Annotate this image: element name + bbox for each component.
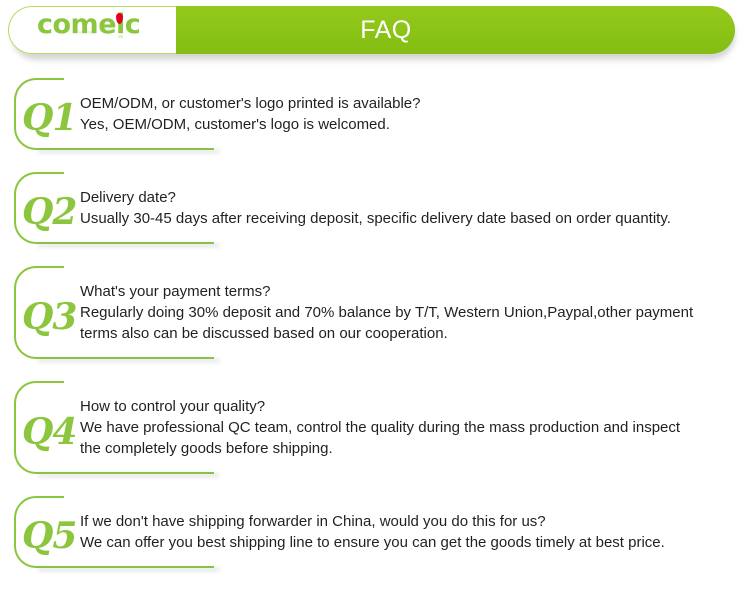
bracket-top-cut [64, 266, 214, 268]
faq-answer-text: the completely goods before shipping. [80, 438, 736, 459]
page-title: FAQ [176, 6, 596, 54]
faq-answer-text: Regularly doing 30% deposit and 70% bala… [80, 302, 736, 323]
faq-item[interactable]: Q3What's your payment terms?Regularly do… [0, 266, 750, 373]
bracket-top-cut [64, 172, 214, 174]
page-header: comeic comeic FAQ [8, 6, 735, 56]
faq-item[interactable]: Q2Delivery date?Usually 30-45 days after… [0, 172, 750, 258]
bracket-top-cut [64, 78, 214, 80]
faq-text-block: How to control your quality?We have prof… [80, 396, 736, 459]
faq-answer-text: Yes, OEM/ODM, customer's logo is welcome… [80, 114, 736, 135]
faq-question-text: How to control your quality? [80, 396, 736, 417]
faq-item[interactable]: Q5If we don't have shipping forwarder in… [0, 496, 750, 582]
faq-item[interactable]: Q4How to control your quality?We have pr… [0, 381, 750, 488]
bracket-top-cut [64, 381, 214, 383]
faq-question-text: If we don't have shipping forwarder in C… [80, 511, 736, 532]
faq-question-label: Q2 [22, 194, 76, 230]
faq-question-text: What's your payment terms? [80, 281, 736, 302]
faq-item[interactable]: Q1OEM/ODM, or customer's logo printed is… [0, 78, 750, 164]
faq-question-label: Q3 [22, 299, 76, 335]
bracket-top-cut [64, 496, 214, 498]
faq-answer-text: Usually 30-45 days after receiving depos… [80, 208, 736, 229]
brand-logo[interactable]: comeic comeic [37, 9, 177, 54]
faq-text-block: What's your payment terms?Regularly doin… [80, 281, 736, 344]
faq-question-text: Delivery date? [80, 187, 736, 208]
faq-list: Q1OEM/ODM, or customer's logo printed is… [0, 78, 750, 590]
faq-answer-text: terms also can be discussed based on our… [80, 323, 736, 344]
faq-question-label: Q5 [22, 518, 76, 554]
logo-reflection: comeic [37, 19, 140, 39]
faq-text-block: If we don't have shipping forwarder in C… [80, 511, 736, 553]
header-green-bar: FAQ [176, 6, 735, 54]
faq-text-block: Delivery date?Usually 30-45 days after r… [80, 187, 736, 229]
faq-question-text: OEM/ODM, or customer's logo printed is a… [80, 93, 736, 114]
faq-question-label: Q1 [22, 100, 76, 136]
logo-panel: comeic comeic [8, 6, 184, 54]
faq-answer-text: We have professional QC team, control th… [80, 417, 736, 438]
faq-text-block: OEM/ODM, or customer's logo printed is a… [80, 93, 736, 135]
faq-question-label: Q4 [22, 414, 76, 450]
